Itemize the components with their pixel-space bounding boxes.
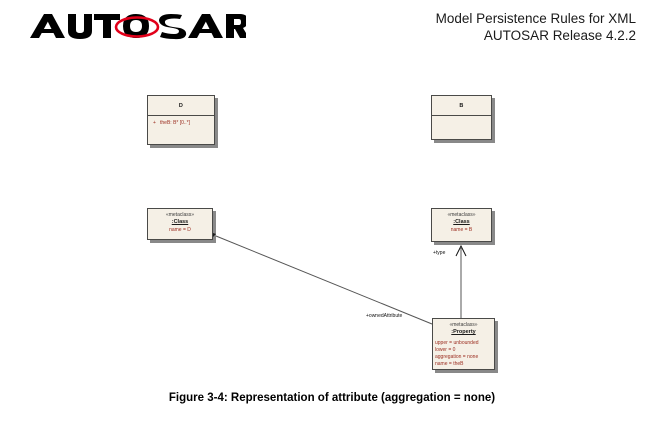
autosar-logo: [28, 12, 246, 46]
instance-property-slot-upper: upper = unbounded: [435, 340, 492, 347]
instance-property-name: :Property: [435, 329, 492, 337]
instance-property-slot-aggregation: aggregation = none: [435, 354, 492, 361]
edge-label-owned-attribute: +ownedAttribute: [366, 313, 402, 320]
diagram-edges: [0, 62, 664, 382]
class-box-b: B: [431, 95, 492, 140]
class-d-attribute-compartment: +theB: B* [0..*]: [148, 115, 214, 145]
instance-property-inner: «metaclass» :Property upper = unbounded …: [433, 321, 494, 368]
figure-caption: Figure 3-4: Representation of attribute …: [0, 392, 664, 404]
instance-class-b-slot-name: name = B: [434, 227, 489, 234]
instance-property-stereotype: «metaclass»: [435, 322, 492, 329]
instance-property-slot-name: name = theB: [435, 361, 492, 368]
instance-class-b-inner: «metaclass» :Class name = B: [432, 211, 491, 234]
class-box-d: D +theB: B* [0..*]: [147, 95, 215, 145]
document-title-line2: AUTOSAR Release 4.2.2: [330, 27, 636, 44]
instance-class-d-name: :Class: [150, 219, 210, 227]
uml-diagram: D +theB: B* [0..*] B «metaclass» :Class …: [0, 62, 664, 382]
class-b-name: B: [459, 102, 463, 110]
instance-property-slot-lower: lower = 0: [435, 347, 492, 354]
class-b-name-compartment: B: [432, 96, 491, 115]
instance-box-class-d: «metaclass» :Class name = D: [147, 208, 213, 240]
instance-class-b-name: :Class: [434, 219, 489, 227]
instance-box-property: «metaclass» :Property upper = unbounded …: [432, 318, 495, 370]
instance-class-d-slot-name: name = D: [150, 227, 210, 234]
instance-box-class-b: «metaclass» :Class name = B: [431, 208, 492, 242]
instance-class-d-stereotype: «metaclass»: [150, 212, 210, 219]
attribute-visibility: +: [153, 119, 160, 127]
class-d-name-compartment: D: [148, 96, 214, 115]
page-header: Model Persistence Rules for XML AUTOSAR …: [0, 0, 664, 62]
class-b-attribute-compartment: [432, 115, 491, 140]
document-title-line1: Model Persistence Rules for XML: [330, 10, 636, 27]
instance-class-d-inner: «metaclass» :Class name = D: [148, 211, 212, 234]
document-title: Model Persistence Rules for XML AUTOSAR …: [330, 10, 636, 44]
class-d-attribute-row: +theB: B* [0..*]: [151, 119, 211, 127]
class-d-name: D: [179, 102, 183, 110]
instance-class-b-stereotype: «metaclass»: [434, 212, 489, 219]
edge-label-type: +type: [433, 250, 445, 257]
attribute-text: theB: B* [0..*]: [160, 120, 190, 126]
